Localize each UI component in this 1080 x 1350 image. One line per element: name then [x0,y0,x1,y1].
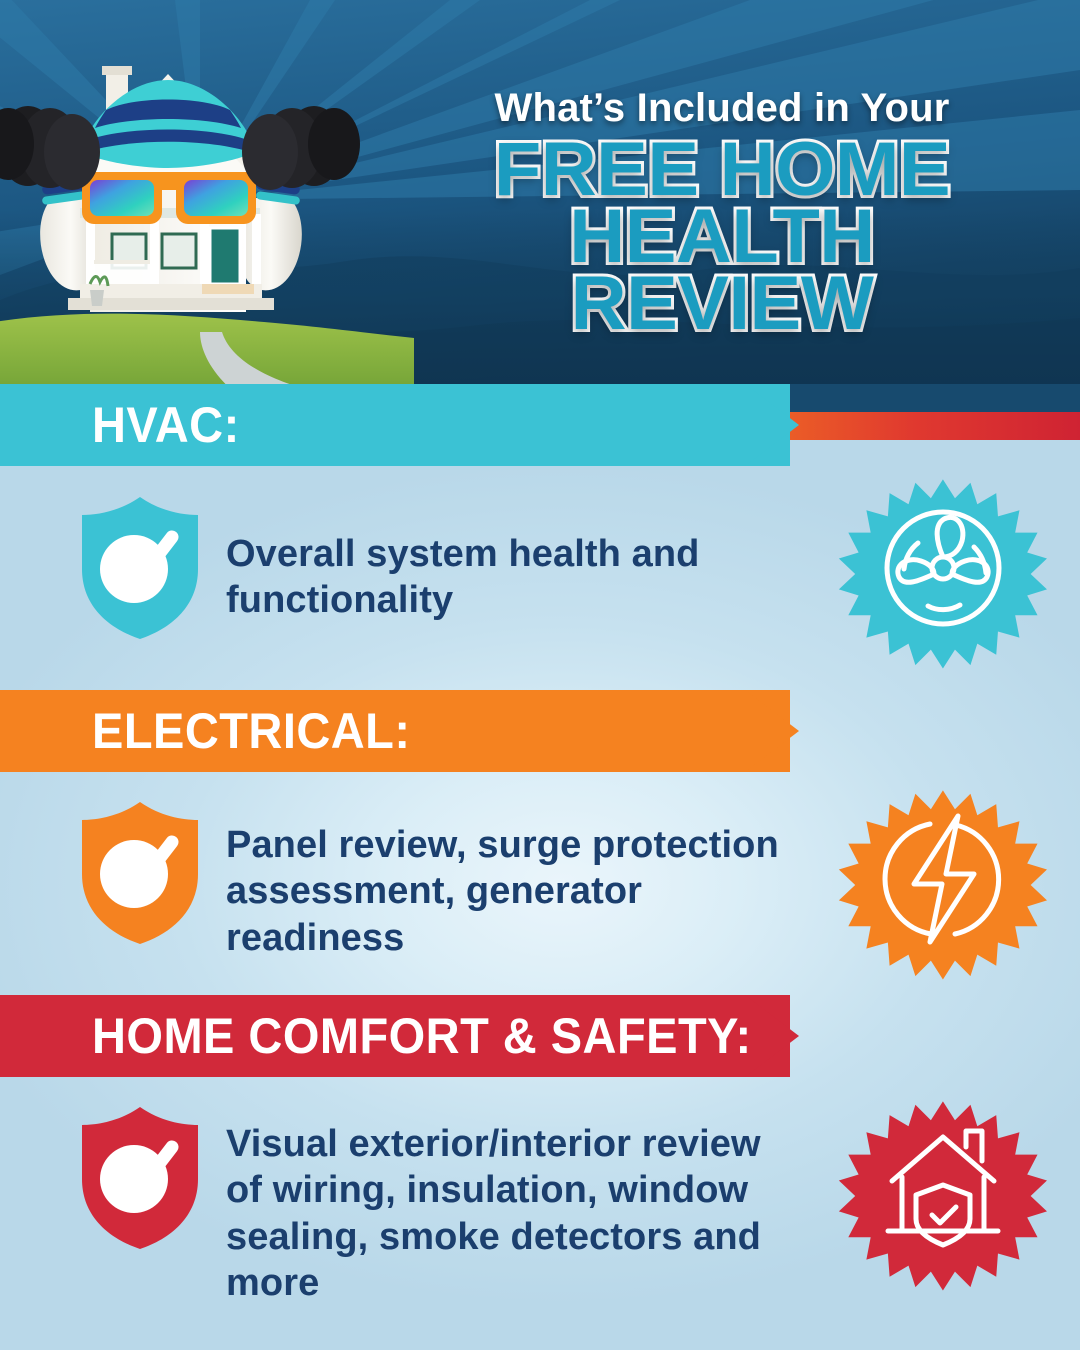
banner-label-electrical: ELECTRICAL: [92,702,410,760]
section-banner-electrical: ELECTRICAL: [0,690,431,772]
row-text-electrical: Panel review, surge protection assessmen… [226,822,786,961]
content-row-safety: Visual exterior/interior review of wirin… [0,1105,1080,1306]
badge-hvac [838,463,1048,673]
banner-arrow-tip [745,690,799,772]
banner-label-safety: HOME COMFORT & SAFETY: [92,1007,752,1065]
left-dumbbell [0,106,100,190]
section-banner-safety: HOME COMFORT & SAFETY: [0,995,794,1077]
banner-arrow-tip [745,995,799,1077]
hero-headline-line2: REVIEW [365,271,1079,338]
badge-safety [838,1085,1048,1295]
banner-label-hvac: HVAC: [92,396,240,454]
lightning-bolt-icon [838,774,1048,984]
section-banner-hvac: HVAC: [0,384,249,466]
row-text-safety: Visual exterior/interior review of wirin… [226,1121,786,1306]
hero-kicker: What’s Included in Your [372,86,1072,131]
shield-check-icon-safety [78,1105,202,1256]
house-shield-icon [838,1085,1048,1295]
house-mascot-image [0,22,414,400]
fan-icon [838,463,1048,673]
hero-title-block: What’s Included in Your FREE HOME HEALTH… [372,86,1072,338]
hero-section: What’s Included in Your FREE HOME HEALTH… [0,0,1080,400]
infographic-page: What’s Included in Your FREE HOME HEALTH… [0,0,1080,1350]
content-row-electrical: Panel review, surge protection assessmen… [0,800,1080,961]
shield-check-icon-electrical [78,800,202,951]
banner-arrow-tip [745,384,799,466]
content-row-hvac: Overall system health and functionality [0,495,1080,646]
row-text-hvac: Overall system health and functionality [226,531,786,624]
hero-headline-line1: FREE HOME HEALTH [494,127,950,279]
badge-electrical [838,774,1048,984]
shield-check-icon-hvac [78,495,202,646]
right-dumbbell [242,106,360,190]
hero-headline: FREE HOME HEALTH REVIEW [365,137,1079,338]
